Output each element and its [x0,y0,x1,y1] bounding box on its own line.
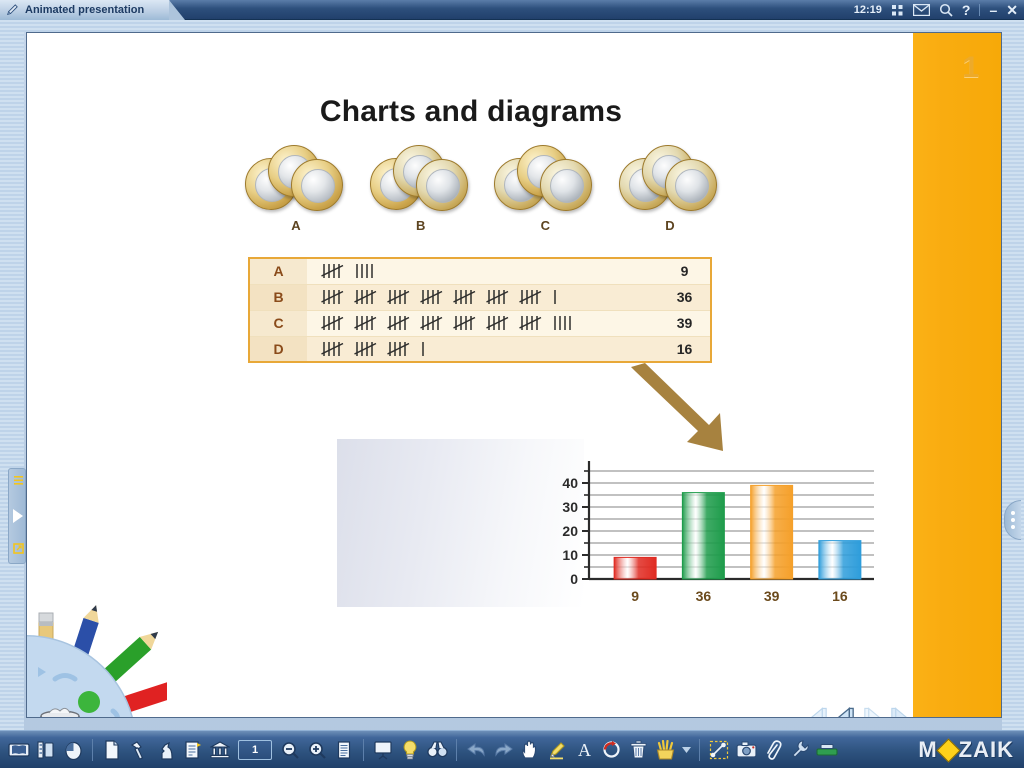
row-value: 9 [659,258,711,284]
coin-stack [368,145,474,211]
coin-group-label: A [243,218,349,233]
divider [363,739,364,761]
undo-icon[interactable] [463,735,489,765]
coin-group-label: B [368,218,474,233]
logo-text-before: M [918,737,937,763]
row-key: D [249,336,307,362]
table-row: C39 [249,310,711,336]
book-open-icon[interactable] [33,735,59,765]
pencil-icon [6,3,20,17]
row-key: C [249,310,307,336]
bar [682,493,724,579]
bar [614,557,656,579]
frame-top [0,20,1024,32]
tally-marks [307,310,659,336]
node-path-icon[interactable] [706,735,732,765]
external-link-icon[interactable] [11,543,25,554]
row-key: A [249,258,307,284]
help-icon[interactable]: ? [962,2,971,18]
scanner-icon[interactable] [814,735,840,765]
next-page-arrow[interactable] [861,705,884,718]
table-row: B36 [249,284,711,310]
pen-cup-icon[interactable] [652,735,678,765]
title-bar: Animated presentation 12:19 [0,0,1024,20]
y-axis-tick-label: 0 [570,571,578,587]
tally-marks [307,284,659,310]
bar-chart: 0102030409363916 [337,439,877,619]
page-title: Charts and diagrams [27,95,915,129]
zoom-out-icon[interactable] [277,735,303,765]
row-value: 36 [659,284,711,310]
trash-icon[interactable] [625,735,651,765]
row-value: 39 [659,310,711,336]
title-bar-controls: 12:19 ? – ✕ [854,0,1018,20]
chess-knight-icon[interactable] [153,735,179,765]
x-axis-tick-label: 39 [764,588,780,604]
play-triangle-icon[interactable] [11,507,25,525]
coin-stack [617,145,723,211]
coin-stack [243,145,349,211]
coin-icon [291,159,343,211]
rotate-icon[interactable] [598,735,624,765]
menu-lines-icon[interactable] [11,475,25,486]
application-window: Animated presentation 12:19 [0,0,1024,768]
wrench-icon[interactable] [787,735,813,765]
diamond-icon [936,738,960,762]
search-icon[interactable] [939,3,953,17]
row-value: 16 [659,336,711,362]
divider [456,739,457,761]
tally-marks [307,336,659,362]
document-icon[interactable] [180,735,206,765]
redo-icon[interactable] [490,735,516,765]
frame-left [0,20,24,768]
mail-icon[interactable] [913,4,930,16]
left-side-panel-tab[interactable] [8,468,26,564]
y-axis-tick-label: 40 [562,475,578,491]
x-axis-tick-label: 16 [832,588,848,604]
x-axis-tick-label: 36 [696,588,712,604]
chevron-down-icon[interactable] [679,735,693,765]
mouse-icon[interactable] [60,735,86,765]
page-number-field[interactable]: 1 [238,740,272,760]
bank-icon[interactable] [207,735,233,765]
coin-group: C [492,145,598,233]
page-icon[interactable] [99,735,125,765]
divider [699,739,700,761]
page-navigation [807,705,911,718]
presentation-icon[interactable] [370,735,396,765]
table-row: D16 [249,336,711,362]
torn-paper-strip [913,33,1001,717]
coin-groups: A B C [243,145,723,233]
hammer-icon[interactable] [126,735,152,765]
close-button[interactable]: ✕ [1006,2,1018,19]
row-key: B [249,284,307,310]
coin-group-label: D [617,218,723,233]
coin-icon [416,159,468,211]
window-tab-title: Animated presentation [25,4,144,16]
tally-table: A9B36C39D16 [248,257,712,363]
camera-icon[interactable] [733,735,759,765]
brand-logo: M ZAIK [918,736,1014,764]
text-tool-icon[interactable]: A [571,735,597,765]
lightbulb-icon[interactable] [397,735,423,765]
first-page-arrow[interactable] [807,705,830,718]
tally-marks [307,258,659,284]
y-axis-tick-label: 20 [562,523,578,539]
last-page-arrow[interactable] [888,705,911,718]
list-icon[interactable] [331,735,357,765]
highlighter-icon[interactable] [544,735,570,765]
divider [979,4,980,16]
grid-icon[interactable] [891,4,904,17]
coin-group: A [243,145,349,233]
book-icon[interactable] [6,735,32,765]
frame-right [1002,20,1024,768]
coin-icon [665,159,717,211]
paperclip-icon[interactable] [760,735,786,765]
chart-svg: 0102030409363916 [337,439,877,619]
torn-paper-edge [887,33,913,717]
coin-group: D [617,145,723,233]
binoculars-icon[interactable] [424,735,450,765]
coin-group: B [368,145,474,233]
bar [819,541,861,579]
three-dots-icon [1011,511,1015,515]
x-axis-tick-label: 9 [631,588,639,604]
bar [751,485,793,579]
bottom-toolbar: 1 [0,730,1024,768]
minimize-button[interactable]: – [989,2,997,18]
coin-icon [540,159,592,211]
desk-decoration [27,599,167,718]
window-tab[interactable]: Animated presentation [0,0,170,20]
zoom-in-icon[interactable] [304,735,330,765]
three-dots-icon [1011,525,1015,529]
logo-text-after: ZAIK [959,737,1014,763]
y-axis-tick-label: 30 [562,499,578,515]
page-number-watermark: 1 [962,51,979,85]
coin-stack [492,145,598,211]
previous-page-arrow[interactable] [834,705,857,718]
table-row: A9 [249,258,711,284]
svg-text:A: A [578,740,591,759]
y-axis-tick-label: 10 [562,547,578,563]
slide-page: 1 Charts and diagrams A B [26,32,1002,718]
clock: 12:19 [854,4,882,16]
hand-icon[interactable] [517,735,543,765]
coin-group-label: C [492,218,598,233]
divider [92,739,93,761]
three-dots-icon [1011,518,1015,522]
